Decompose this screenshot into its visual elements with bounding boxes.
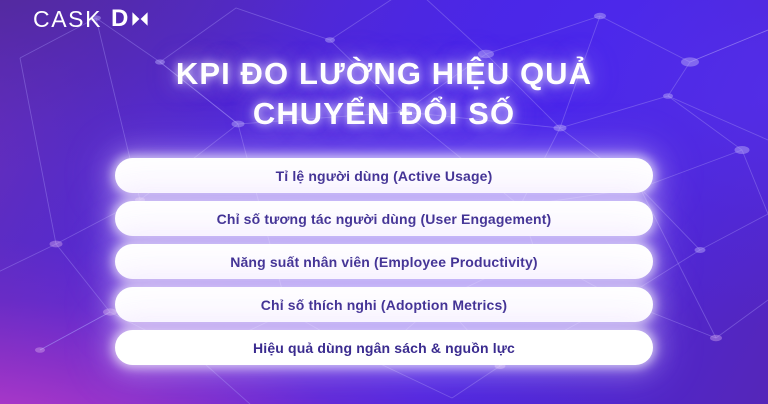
kpi-item-label: Chỉ số tương tác người dùng (User Engage… [217,211,552,227]
page-title-line-1: KPI ĐO LƯỜNG HIỆU QUẢ [0,54,768,94]
brand-logo: CASK D [33,7,150,31]
list-item[interactable]: Năng suất nhân viên (Employee Productivi… [115,244,653,279]
list-item[interactable]: Chỉ số tương tác người dùng (User Engage… [115,201,653,236]
kpi-item-label: Hiệu quả dùng ngân sách & nguồn lực [253,340,515,356]
list-item[interactable]: Tỉ lệ người dùng (Active Usage) [115,158,653,193]
page-title-line-2: CHUYỂN ĐỔI SỐ [0,94,768,134]
list-item[interactable]: Hiệu quả dùng ngân sách & nguồn lực [115,330,653,365]
brand-letter-d: D [111,7,129,31]
brand-product-dx: D [111,7,150,31]
x-mark-icon [130,9,150,29]
brand-name-cask: CASK [33,8,102,31]
list-item[interactable]: Chỉ số thích nghi (Adoption Metrics) [115,287,653,322]
kpi-item-label: Chỉ số thích nghi (Adoption Metrics) [261,297,508,313]
slide-canvas: CASK D KPI ĐO LƯỜNG HIỆU QUẢ CHUYỂN ĐỔI … [0,0,768,404]
kpi-item-label: Tỉ lệ người dùng (Active Usage) [276,168,493,184]
kpi-list: Tỉ lệ người dùng (Active Usage) Chỉ số t… [0,158,768,365]
page-title: KPI ĐO LƯỜNG HIỆU QUẢ CHUYỂN ĐỔI SỐ [0,54,768,135]
kpi-item-label: Năng suất nhân viên (Employee Productivi… [230,254,538,270]
